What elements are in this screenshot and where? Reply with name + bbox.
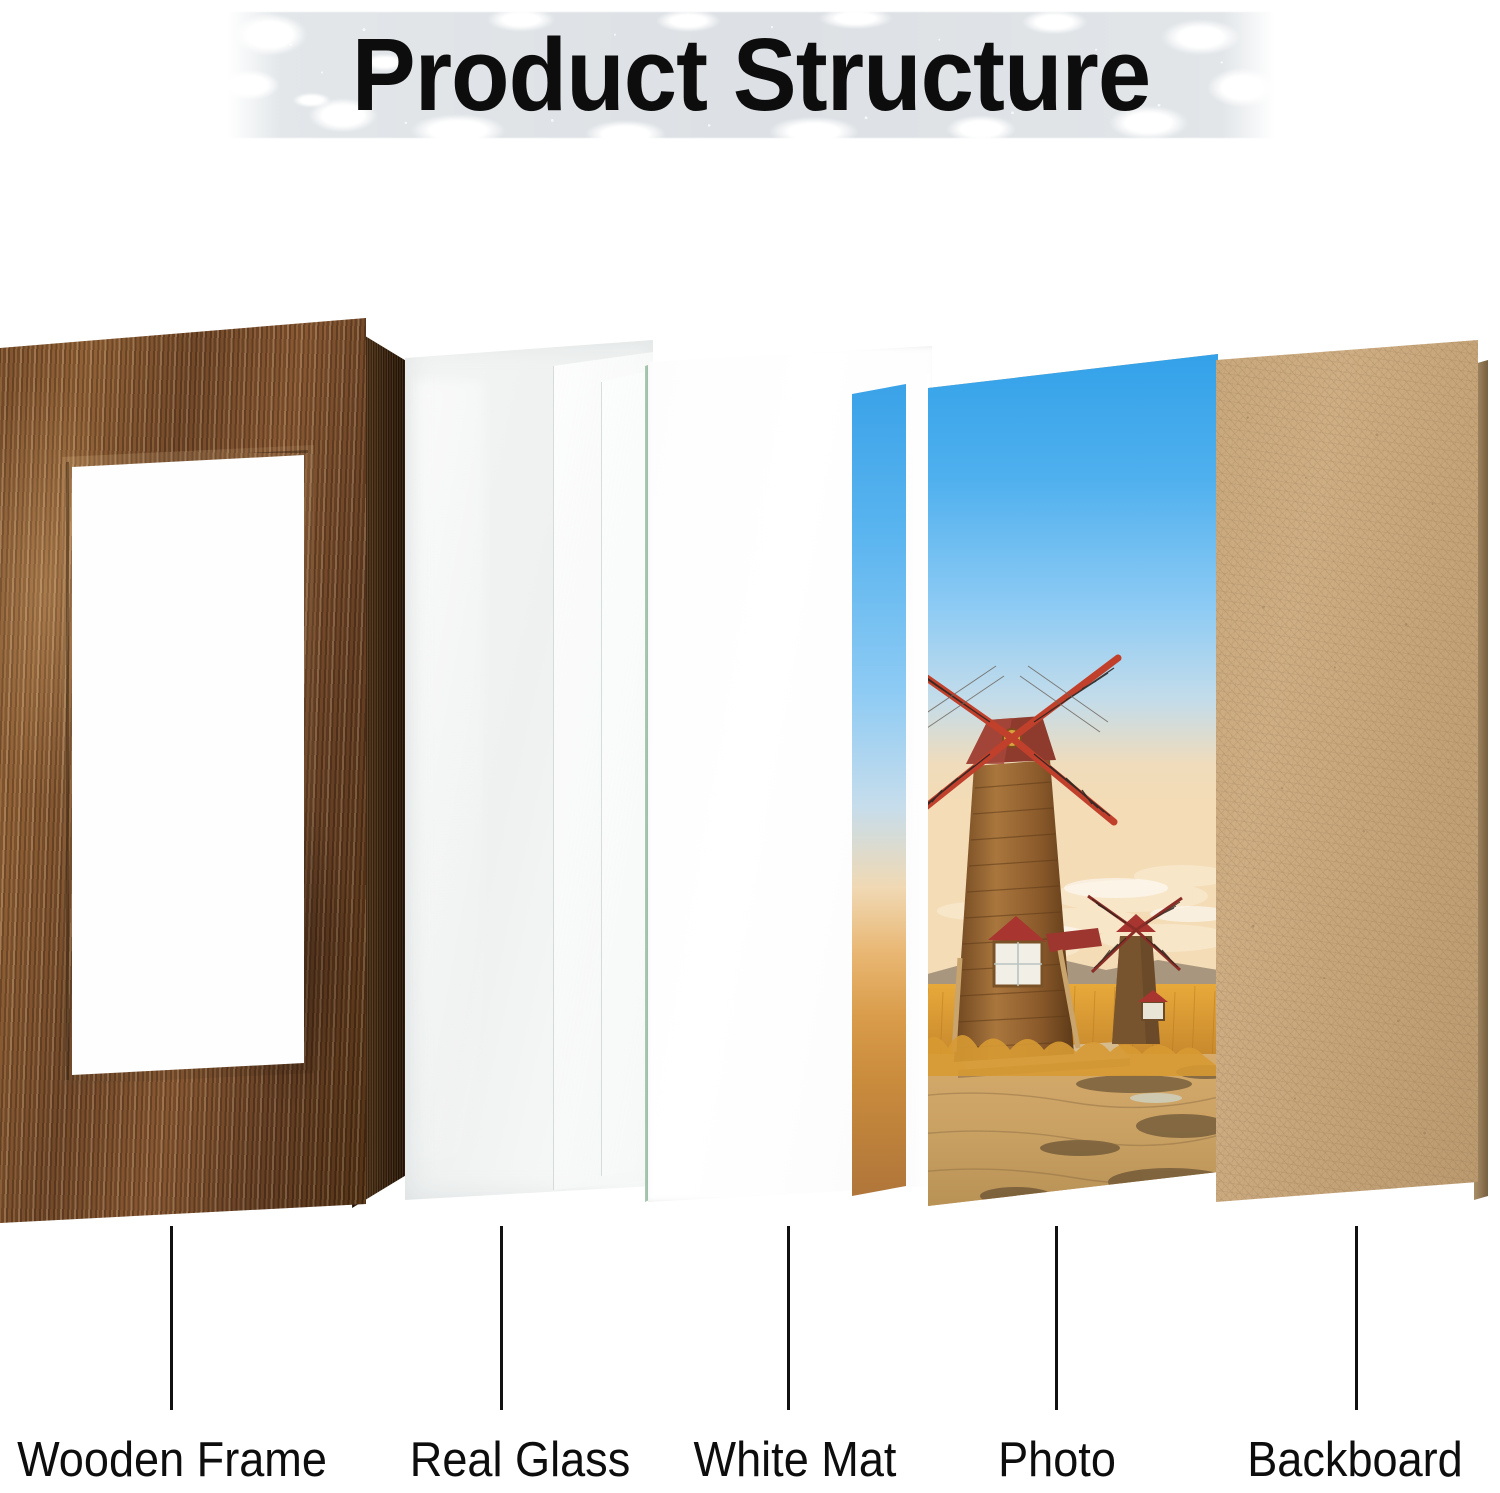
leader-line-wooden-frame xyxy=(170,1226,173,1410)
leader-line-real-glass xyxy=(500,1226,503,1410)
mat-right-rim xyxy=(906,374,930,1200)
leader-line-white-mat xyxy=(787,1226,790,1410)
label-text: Photo xyxy=(998,1432,1116,1488)
glass-gloss-highlight xyxy=(415,380,485,1160)
title-banner: Product Structure xyxy=(228,12,1274,138)
backboard-fiberboard-face xyxy=(1216,340,1480,1202)
label-wooden-frame: Wooden Frame xyxy=(4,1432,341,1488)
label-text: Wooden Frame xyxy=(17,1432,327,1488)
label-real-glass: Real Glass xyxy=(400,1432,640,1488)
white-mat-layer xyxy=(648,346,938,1202)
exploded-view-diagram xyxy=(0,318,1500,1228)
label-photo: Photo xyxy=(993,1432,1121,1488)
label-backboard: Backboard xyxy=(1238,1432,1472,1488)
real-glass-layer xyxy=(405,340,660,1200)
photo-layer xyxy=(928,354,1220,1206)
label-white-mat: White Mat xyxy=(685,1432,906,1488)
label-text: White Mat xyxy=(694,1432,897,1488)
label-text: Real Glass xyxy=(410,1432,630,1488)
frame-inner-lip xyxy=(66,450,314,1086)
leader-line-backboard xyxy=(1355,1226,1358,1410)
leader-line-photo xyxy=(1055,1226,1058,1410)
page-title: Product Structure xyxy=(265,12,1238,138)
photo-peek-behind-mat xyxy=(852,384,906,1196)
wooden-frame-layer xyxy=(0,318,415,1223)
windmill-photograph xyxy=(928,354,1220,1206)
label-text: Backboard xyxy=(1247,1432,1463,1488)
backboard-layer xyxy=(1216,340,1488,1202)
